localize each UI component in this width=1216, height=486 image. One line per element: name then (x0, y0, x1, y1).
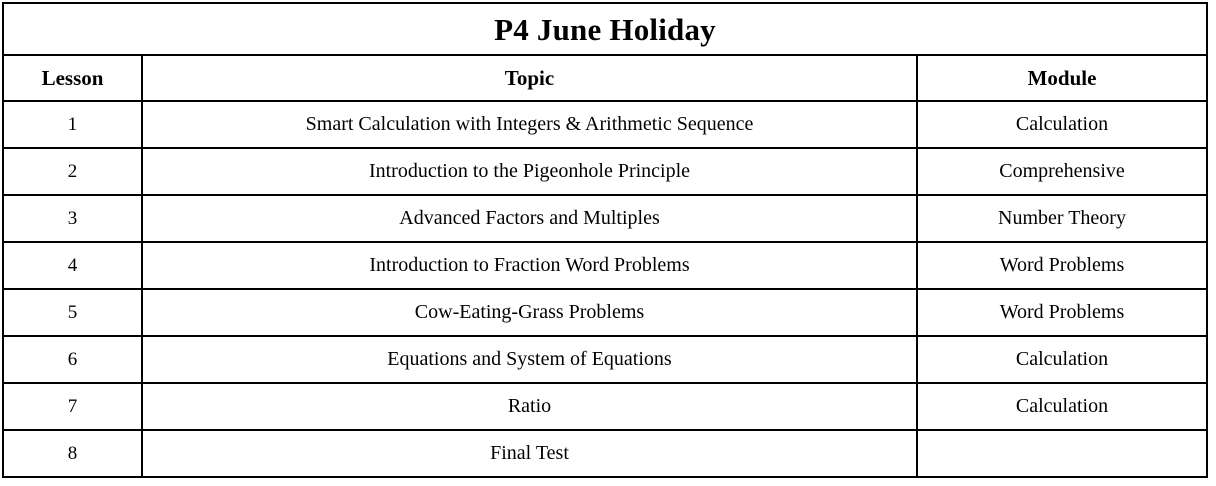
column-header-topic: Topic (142, 55, 917, 101)
cell-module (917, 430, 1207, 477)
table-title-row: P4 June Holiday (3, 3, 1207, 55)
cell-module: Calculation (917, 336, 1207, 383)
table-row: 6 Equations and System of Equations Calc… (3, 336, 1207, 383)
cell-module: Word Problems (917, 242, 1207, 289)
page-title: P4 June Holiday (3, 3, 1207, 55)
cell-topic: Equations and System of Equations (142, 336, 917, 383)
table-row: 5 Cow-Eating-Grass Problems Word Problem… (3, 289, 1207, 336)
cell-module: Word Problems (917, 289, 1207, 336)
cell-lesson: 3 (3, 195, 142, 242)
cell-lesson: 1 (3, 101, 142, 148)
cell-lesson: 7 (3, 383, 142, 430)
cell-lesson: 2 (3, 148, 142, 195)
table-row: 1 Smart Calculation with Integers & Arit… (3, 101, 1207, 148)
cell-topic: Cow-Eating-Grass Problems (142, 289, 917, 336)
cell-topic: Ratio (142, 383, 917, 430)
column-header-module: Module (917, 55, 1207, 101)
table-row: 3 Advanced Factors and Multiples Number … (3, 195, 1207, 242)
page-container: P4 June Holiday Lesson Topic Module 1 Sm… (0, 0, 1216, 486)
cell-module: Comprehensive (917, 148, 1207, 195)
cell-lesson: 8 (3, 430, 142, 477)
cell-lesson: 5 (3, 289, 142, 336)
table-body: 1 Smart Calculation with Integers & Arit… (3, 101, 1207, 477)
cell-module: Calculation (917, 383, 1207, 430)
cell-lesson: 6 (3, 336, 142, 383)
table-row: 4 Introduction to Fraction Word Problems… (3, 242, 1207, 289)
lesson-schedule-table: P4 June Holiday Lesson Topic Module 1 Sm… (2, 2, 1208, 478)
cell-topic: Final Test (142, 430, 917, 477)
cell-topic: Advanced Factors and Multiples (142, 195, 917, 242)
cell-topic: Smart Calculation with Integers & Arithm… (142, 101, 917, 148)
table-row: 2 Introduction to the Pigeonhole Princip… (3, 148, 1207, 195)
cell-topic: Introduction to the Pigeonhole Principle (142, 148, 917, 195)
cell-module: Number Theory (917, 195, 1207, 242)
cell-lesson: 4 (3, 242, 142, 289)
table-header-row: Lesson Topic Module (3, 55, 1207, 101)
table-head: P4 June Holiday Lesson Topic Module (3, 3, 1207, 101)
column-header-lesson: Lesson (3, 55, 142, 101)
cell-topic: Introduction to Fraction Word Problems (142, 242, 917, 289)
table-row: 7 Ratio Calculation (3, 383, 1207, 430)
cell-module: Calculation (917, 101, 1207, 148)
table-row: 8 Final Test (3, 430, 1207, 477)
